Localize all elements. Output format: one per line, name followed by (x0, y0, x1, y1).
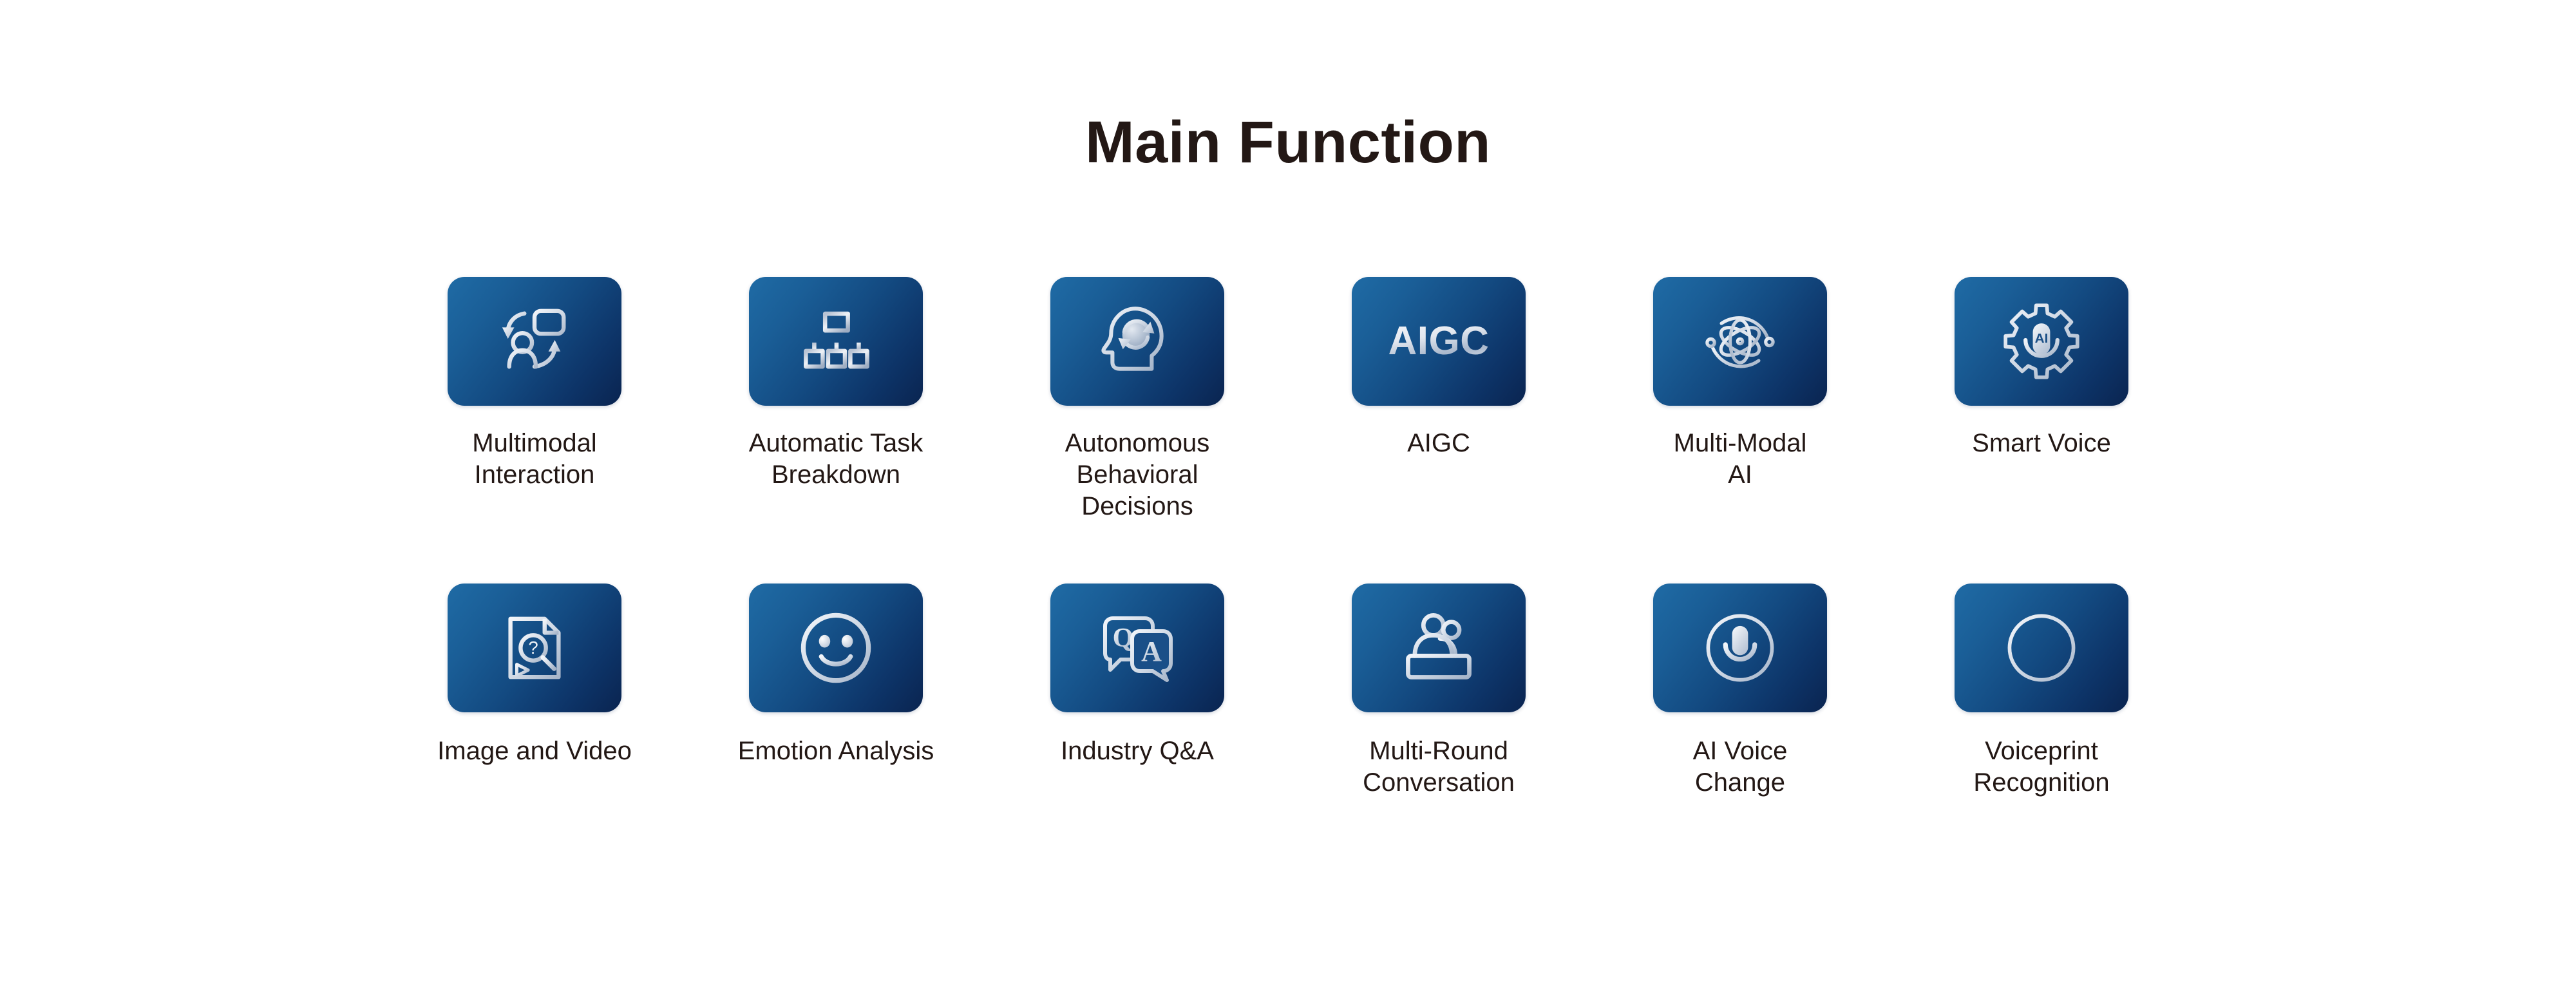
feature-item-multimodal-interaction[interactable]: Multimodal Interaction (412, 277, 657, 491)
feature-label: Smart Voice (1972, 428, 2111, 459)
head-refresh-sphere-icon (1098, 302, 1177, 381)
document-search-play-icon: ? (497, 610, 573, 686)
feature-tile[interactable]: AI (1955, 277, 2128, 406)
feature-item-image-and-video[interactable]: ? Image and Video (412, 584, 657, 767)
feature-item-aigc[interactable]: AIGC AIGC (1316, 277, 1561, 459)
microphone-circle-icon (1700, 608, 1780, 688)
feature-item-ai-voice-change[interactable]: AI Voice Change (1618, 584, 1862, 799)
waveform-circle-icon (2002, 608, 2081, 688)
atom-orbit-icon (1700, 301, 1780, 381)
feature-tile[interactable]: ? (448, 584, 621, 712)
smiley-face-icon (796, 608, 876, 688)
svg-text:A: A (1141, 636, 1162, 667)
feature-tile[interactable]: AIGC (1352, 277, 1526, 406)
feature-label: Image and Video (437, 736, 632, 767)
feature-row-2: ? Image and Video (412, 584, 2164, 799)
feature-label: Automatic Task Breakdown (749, 428, 923, 491)
feature-label: Autonomous Behavioral Decisions (1065, 428, 1210, 522)
feature-item-autonomous-behavioral-decisions[interactable]: Autonomous Behavioral Decisions (1015, 277, 1260, 522)
feature-tile[interactable] (1653, 277, 1827, 406)
feature-label: AIGC (1407, 428, 1470, 459)
people-desk-icon (1399, 608, 1479, 688)
feature-item-industry-qa[interactable]: Q A Industry Q&A (1015, 584, 1260, 767)
svg-text:AI: AI (2035, 331, 2049, 346)
feature-tile[interactable] (1352, 584, 1526, 712)
feature-grid: Multimodal Interaction (412, 277, 2164, 799)
feature-item-smart-voice[interactable]: AI Smart Voice (1919, 277, 2164, 459)
feature-label: Multi-Round Conversation (1363, 736, 1515, 799)
hierarchy-tree-icon (800, 305, 872, 377)
feature-item-emotion-analysis[interactable]: Emotion Analysis (714, 584, 958, 767)
feature-tile[interactable]: Q A (1050, 584, 1224, 712)
feature-item-multi-modal-ai[interactable]: Multi-Modal AI (1618, 277, 1862, 491)
feature-tile[interactable] (749, 584, 923, 712)
feature-tile[interactable] (1955, 584, 2128, 712)
feature-item-automatic-task-breakdown[interactable]: Automatic Task Breakdown (714, 277, 958, 491)
main-function-section: Main Function (0, 0, 2576, 1006)
feature-tile[interactable] (448, 277, 621, 406)
feature-label: Voiceprint Recognition (1973, 736, 2109, 799)
feature-label: Industry Q&A (1061, 736, 1214, 767)
feature-row-1: Multimodal Interaction (412, 277, 2164, 522)
user-screen-exchange-icon (497, 303, 573, 379)
feature-tile[interactable] (749, 277, 923, 406)
feature-label: AI Voice Change (1693, 736, 1788, 799)
qa-speech-bubbles-icon: Q A (1099, 609, 1176, 687)
feature-label: Emotion Analysis (738, 736, 934, 767)
feature-item-multi-round-conversation[interactable]: Multi-Round Conversation (1316, 584, 1561, 799)
page-title: Main Function (0, 113, 2576, 172)
gear-microphone-ai-icon: AI (2002, 301, 2081, 381)
aigc-text-icon: AIGC (1388, 321, 1490, 361)
feature-tile[interactable] (1653, 584, 1827, 712)
svg-text:?: ? (528, 638, 538, 658)
feature-item-voiceprint-recognition[interactable]: Voiceprint Recognition (1919, 584, 2164, 799)
feature-label: Multimodal Interaction (472, 428, 596, 491)
feature-tile[interactable] (1050, 277, 1224, 406)
feature-label: Multi-Modal AI (1674, 428, 1807, 491)
